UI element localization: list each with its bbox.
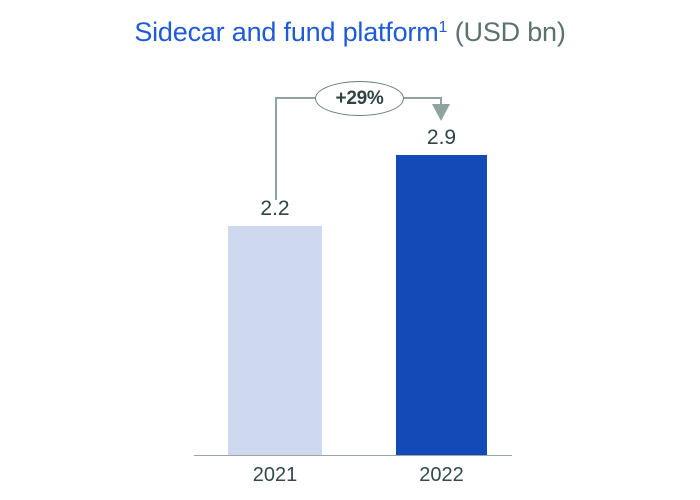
bar-2021[interactable] <box>228 226 322 456</box>
x-axis-label-2021: 2021 <box>228 464 322 487</box>
x-axis-line <box>194 455 512 456</box>
bar-value-label-2021: 2.2 <box>228 197 322 221</box>
growth-connector-arrow <box>0 0 700 500</box>
growth-badge: +29% <box>315 81 404 116</box>
x-axis-label-2022: 2022 <box>396 464 487 487</box>
bar-value-label-2022: 2.9 <box>396 126 487 150</box>
growth-badge-label: +29% <box>336 89 384 108</box>
bar-chart-plot-area: 2.2 2.9 2021 2022 +29% <box>0 0 700 500</box>
bar-2022[interactable] <box>396 155 487 456</box>
chart-slide: Sidecar and fund platform1 (USD bn) 2.2 … <box>0 0 700 500</box>
